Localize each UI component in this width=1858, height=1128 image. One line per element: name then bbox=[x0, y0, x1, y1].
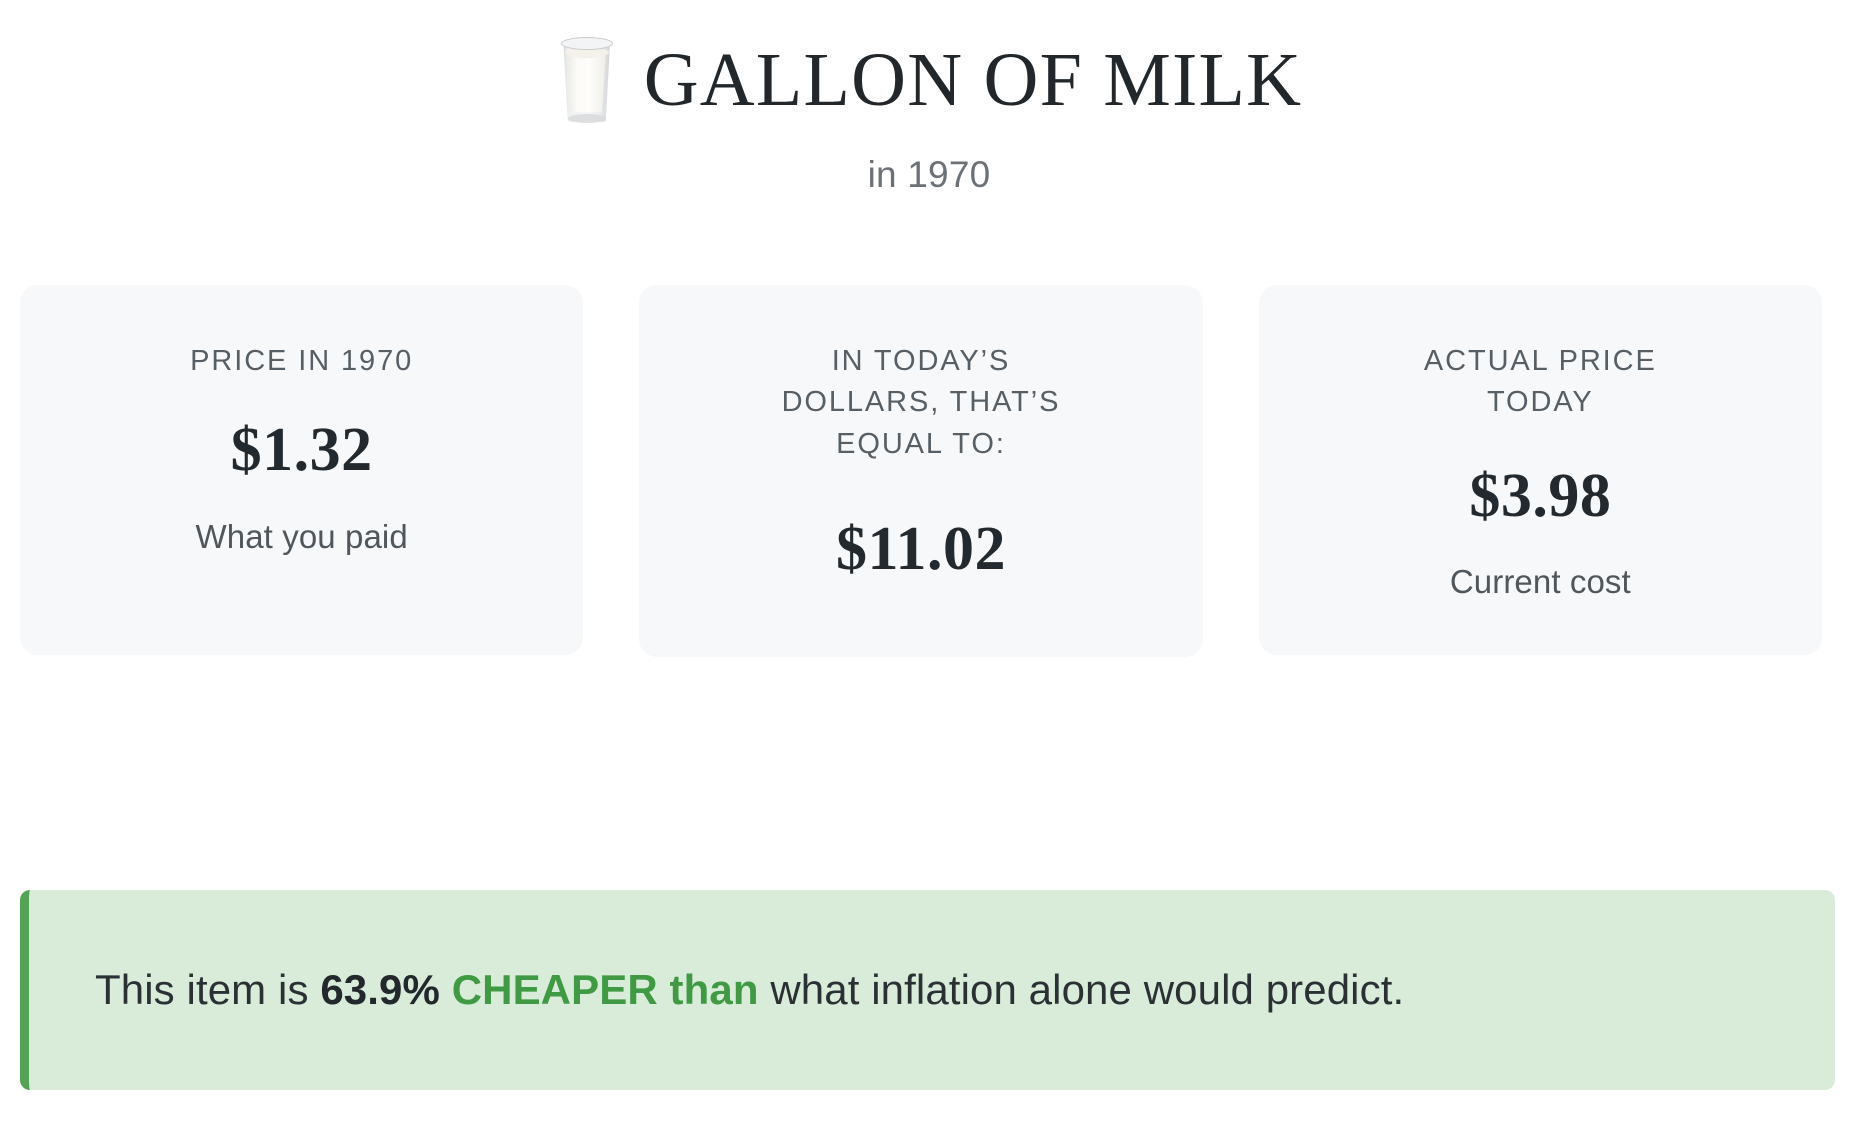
stat-card-caption: Current cost bbox=[1450, 563, 1631, 601]
verdict-lead: This item is bbox=[95, 966, 320, 1013]
verdict-banner: This item is 63.9% CHEAPER than what inf… bbox=[20, 890, 1835, 1090]
stat-card-value: $3.98 bbox=[1469, 464, 1611, 529]
stat-card-inflation-equivalent: IN TODAY’S DOLLARS, THAT’S EQUAL TO: $11… bbox=[639, 285, 1202, 657]
page-title: GALLON OF MILK bbox=[0, 34, 1858, 126]
stat-card-group: PRICE IN 1970 $1.32 What you paid IN TOD… bbox=[20, 285, 1822, 657]
stat-card-actual-price-today: ACTUAL PRICE TODAY $3.98 Current cost bbox=[1259, 285, 1822, 655]
stat-card-caption: What you paid bbox=[196, 518, 408, 556]
stat-card-price-in-1970: PRICE IN 1970 $1.32 What you paid bbox=[20, 285, 583, 655]
inflation-comparison-page: GALLON OF MILK in 1970 PRICE IN 1970 $1.… bbox=[0, 0, 1858, 1128]
stat-card-value: $11.02 bbox=[836, 517, 1006, 582]
milk-glass-icon bbox=[556, 34, 618, 126]
verdict-space bbox=[440, 966, 452, 1013]
stat-card-value: $1.32 bbox=[231, 418, 373, 483]
page-header: GALLON OF MILK in 1970 bbox=[0, 0, 1858, 196]
stat-card-label: IN TODAY’S DOLLARS, THAT’S EQUAL TO: bbox=[756, 341, 1086, 465]
stat-card-label: PRICE IN 1970 bbox=[190, 341, 413, 382]
verdict-text: This item is 63.9% CHEAPER than what inf… bbox=[29, 964, 1404, 1017]
page-subtitle: in 1970 bbox=[0, 154, 1858, 196]
verdict-tail: what inflation alone would predict. bbox=[759, 966, 1405, 1013]
page-title-text: GALLON OF MILK bbox=[644, 42, 1303, 118]
verdict-direction: CHEAPER than bbox=[452, 966, 759, 1013]
stat-card-label: ACTUAL PRICE TODAY bbox=[1375, 341, 1705, 424]
verdict-percent: 63.9% bbox=[320, 966, 440, 1013]
